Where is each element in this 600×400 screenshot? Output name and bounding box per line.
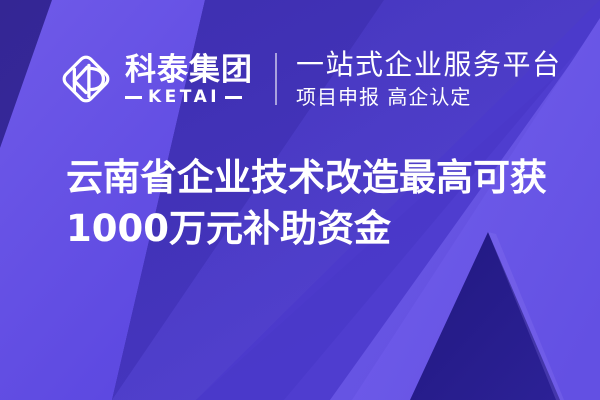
logo-name-en: KETAI xyxy=(148,89,220,106)
company-logo[interactable]: 科泰集团 KETAI xyxy=(55,40,253,118)
tagline-block: 一站式企业服务平台 项目申报 高企认定 xyxy=(296,43,562,115)
logo-rule-left xyxy=(125,96,142,99)
tagline-primary: 一站式企业服务平台 xyxy=(296,48,562,82)
content-layer: 科泰集团 KETAI 一站式企业服务平台 项目申报 高企认定 云南省企业技术改造… xyxy=(0,0,600,400)
logo-name-en-row: KETAI xyxy=(125,90,253,106)
promo-banner: 科泰集团 KETAI 一站式企业服务平台 项目申报 高企认定 云南省企业技术改造… xyxy=(0,0,600,400)
tagline-secondary: 项目申报 高企认定 xyxy=(296,84,562,110)
logo-name-cn: 科泰集团 xyxy=(125,53,253,87)
vertical-divider xyxy=(275,53,277,105)
logo-wordmark: 科泰集团 KETAI xyxy=(125,53,253,106)
headline-title: 云南省企业技术改造最高可获1000万元补助资金 xyxy=(66,152,566,254)
ketai-monogram-icon xyxy=(55,48,117,110)
logo-rule-right xyxy=(225,96,242,99)
brand-header: 科泰集团 KETAI 一站式企业服务平台 项目申报 高企认定 xyxy=(55,40,562,118)
